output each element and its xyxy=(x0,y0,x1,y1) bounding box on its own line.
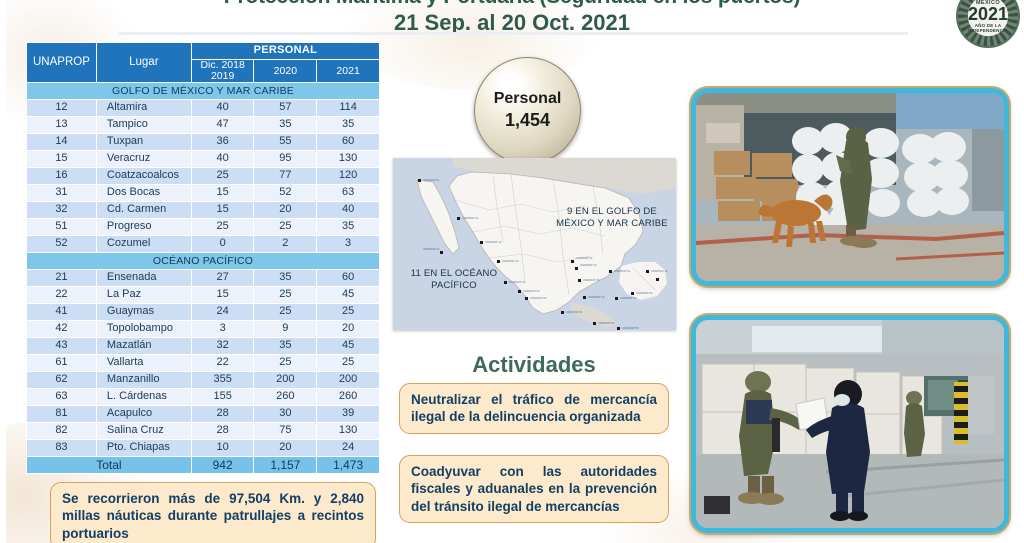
photo-dog-inspection xyxy=(691,88,1009,286)
table-row: 83Pto. Chiapas102024 xyxy=(27,440,380,457)
cell-2019: 36 xyxy=(191,134,254,151)
table-row: 13Tampico473535 xyxy=(27,117,380,134)
cell-2019: 155 xyxy=(191,389,254,406)
cell-lugar: Progreso xyxy=(96,219,191,236)
cell-lugar: Cozumel xyxy=(96,236,191,253)
table-row: 81Acapulco283039 xyxy=(27,406,380,423)
cell-2019: 40 xyxy=(191,151,254,168)
table-row: 63L. Cárdenas155260260 xyxy=(27,389,380,406)
svg-text:UNAPROP 14: UNAPROP 14 xyxy=(576,256,593,260)
table-section-header: OCÉANO PACÍFICO xyxy=(27,253,380,270)
cell-lugar: Tuxpan xyxy=(96,134,191,151)
col-lugar: Lugar xyxy=(96,43,191,83)
warehouse-inspection-image xyxy=(696,320,1004,528)
col-dic-2018-line2: 2019 xyxy=(192,71,254,82)
table-row: 15Veracruz4095130 xyxy=(27,151,380,168)
personnel-table: UNAPROP Lugar PERSONAL Dic. 2018 2019 20… xyxy=(26,42,380,474)
cell-2021: 120 xyxy=(317,168,380,185)
cell-unaprop: 62 xyxy=(27,372,97,389)
cell-2019: 15 xyxy=(191,287,254,304)
cell-2021: 130 xyxy=(317,423,380,440)
cell-lugar: Vallarta xyxy=(96,355,191,372)
cell-lugar: La Paz xyxy=(96,287,191,304)
personal-badge-label: Personal xyxy=(494,90,562,108)
svg-text:UNAPROP 13: UNAPROP 13 xyxy=(580,263,597,267)
cell-unaprop: 13 xyxy=(27,117,97,134)
svg-text:UNAPROP 63: UNAPROP 63 xyxy=(530,296,547,300)
total-2019: 942 xyxy=(191,457,254,474)
table-row: 43Mazatlán323545 xyxy=(27,338,380,355)
col-personal-group: PERSONAL xyxy=(191,43,379,60)
cell-2021: 60 xyxy=(317,134,380,151)
svg-text:UNAPROP 51: UNAPROP 51 xyxy=(614,269,631,273)
title-divider xyxy=(118,32,908,35)
svg-text:UNAPROP 42: UNAPROP 42 xyxy=(485,240,502,244)
cell-lugar: Pto. Chiapas xyxy=(96,440,191,457)
seal-year: 2021 xyxy=(968,5,1008,23)
cell-lugar: Guaymas xyxy=(96,304,191,321)
cell-2020: 20 xyxy=(254,202,317,219)
cell-lugar: Veracruz xyxy=(96,151,191,168)
cell-2019: 24 xyxy=(191,304,254,321)
cell-2020: 55 xyxy=(254,134,317,151)
table-row: 41Guaymas242525 xyxy=(27,304,380,321)
table-row: 12Altamira4057114 xyxy=(27,100,380,117)
cell-2020: 77 xyxy=(254,168,317,185)
cell-2019: 28 xyxy=(191,423,254,440)
col-2020: 2020 xyxy=(254,60,317,83)
cell-unaprop: 41 xyxy=(27,304,97,321)
table-section-label: GOLFO DE MÉXICO Y MAR CARIBE xyxy=(27,83,380,100)
cell-lugar: Coatzacoalcos xyxy=(96,168,191,185)
cell-unaprop: 83 xyxy=(27,440,97,457)
mexico-map: UNAPROP 21 UNAPROP 41 UNAPROP 42 UNAPROP… xyxy=(393,158,676,330)
actividad-item-2: Coadyuvar con las autoridades fiscales y… xyxy=(399,455,669,523)
map-graphic-icon: UNAPROP 21 UNAPROP 41 UNAPROP 42 UNAPROP… xyxy=(393,158,676,330)
cell-unaprop: 81 xyxy=(27,406,97,423)
table-row: 62Manzanillo355200200 xyxy=(27,372,380,389)
cell-2019: 355 xyxy=(191,372,254,389)
title-line-1: Protección Marítima y Portuaria (Segurid… xyxy=(0,0,1024,9)
cell-2020: 20 xyxy=(254,440,317,457)
cell-2021: 39 xyxy=(317,406,380,423)
cell-2019: 10 xyxy=(191,440,254,457)
cell-unaprop: 16 xyxy=(27,168,97,185)
photo-warehouse-inspection xyxy=(691,315,1009,533)
cell-unaprop: 52 xyxy=(27,236,97,253)
cell-2021: 130 xyxy=(317,151,380,168)
svg-text:UNAPROP 16: UNAPROP 16 xyxy=(588,295,605,299)
cell-2021: 45 xyxy=(317,338,380,355)
cell-2020: 35 xyxy=(254,270,317,287)
svg-text:UNAPROP 41: UNAPROP 41 xyxy=(462,216,479,220)
cell-2019: 25 xyxy=(191,219,254,236)
svg-text:UNAPROP 62: UNAPROP 62 xyxy=(523,289,540,293)
cell-2020: 200 xyxy=(254,372,317,389)
dog-inspection-image xyxy=(696,93,1004,281)
slide-title: Protección Marítima y Portuaria (Segurid… xyxy=(0,0,1024,34)
table-row: 82Salina Cruz2875130 xyxy=(27,423,380,440)
cell-2020: 35 xyxy=(254,117,317,134)
cell-2020: 52 xyxy=(254,185,317,202)
cell-unaprop: 15 xyxy=(27,151,97,168)
cell-2020: 260 xyxy=(254,389,317,406)
left-page-edge xyxy=(0,0,6,543)
cell-2020: 25 xyxy=(254,219,317,236)
cell-2019: 47 xyxy=(191,117,254,134)
cell-2021: 24 xyxy=(317,440,380,457)
svg-text:UNAPROP 22: UNAPROP 22 xyxy=(423,247,440,251)
cell-unaprop: 12 xyxy=(27,100,97,117)
col-dic-2018-2019: Dic. 2018 2019 xyxy=(191,60,254,83)
table-header-row-1: UNAPROP Lugar PERSONAL xyxy=(27,43,380,60)
cell-unaprop: 63 xyxy=(27,389,97,406)
cell-lugar: Altamira xyxy=(96,100,191,117)
personal-total-badge: Personal 1,454 xyxy=(474,57,581,164)
cell-2021: 35 xyxy=(317,117,380,134)
cell-2019: 25 xyxy=(191,168,254,185)
cell-2020: 25 xyxy=(254,355,317,372)
svg-text:UNAPROP 81: UNAPROP 81 xyxy=(566,310,583,314)
cell-unaprop: 31 xyxy=(27,185,97,202)
cell-unaprop: 22 xyxy=(27,287,97,304)
cell-2021: 60 xyxy=(317,270,380,287)
cell-lugar: L. Cárdenas xyxy=(96,389,191,406)
cell-2019: 28 xyxy=(191,406,254,423)
cell-unaprop: 82 xyxy=(27,423,97,440)
cell-2019: 27 xyxy=(191,270,254,287)
table-row: 42Topolobampo3920 xyxy=(27,321,380,338)
map-note-gulf: 9 EN EL GOLFO DE MÉXICO Y MAR CARIBE xyxy=(556,206,668,230)
cell-2020: 25 xyxy=(254,304,317,321)
svg-text:UNAPROP 21: UNAPROP 21 xyxy=(423,178,440,182)
cell-lugar: Cd. Carmen xyxy=(96,202,191,219)
cell-2021: 260 xyxy=(317,389,380,406)
cell-2021: 63 xyxy=(317,185,380,202)
table-header: UNAPROP Lugar PERSONAL Dic. 2018 2019 20… xyxy=(27,43,380,83)
col-2021: 2021 xyxy=(317,60,380,83)
svg-text:UNAPROP 82: UNAPROP 82 xyxy=(598,321,615,325)
cell-lugar: Salina Cruz xyxy=(96,423,191,440)
cell-unaprop: 42 xyxy=(27,321,97,338)
cell-2021: 114 xyxy=(317,100,380,117)
cell-lugar: Manzanillo xyxy=(96,372,191,389)
cell-unaprop: 32 xyxy=(27,202,97,219)
cell-2019: 22 xyxy=(191,355,254,372)
svg-text:UNAPROP 32: UNAPROP 32 xyxy=(620,296,637,300)
cell-lugar: Acapulco xyxy=(96,406,191,423)
table-row: 61Vallarta222525 xyxy=(27,355,380,372)
cell-2019: 3 xyxy=(191,321,254,338)
personal-badge-value: 1,454 xyxy=(505,110,550,131)
total-2021: 1,473 xyxy=(317,457,380,474)
svg-text:UNAPROP 43: UNAPROP 43 xyxy=(502,259,519,263)
cell-2020: 35 xyxy=(254,338,317,355)
title-line-2: 21 Sep. al 20 Oct. 2021 xyxy=(0,11,1024,35)
table-row: 31Dos Bocas155263 xyxy=(27,185,380,202)
cell-2019: 15 xyxy=(191,202,254,219)
cell-2020: 2 xyxy=(254,236,317,253)
cell-2019: 32 xyxy=(191,338,254,355)
cell-2021: 35 xyxy=(317,219,380,236)
cell-2019: 0 xyxy=(191,236,254,253)
svg-text:UNAPROP 52: UNAPROP 52 xyxy=(636,291,653,295)
table-row: 52Cozumel023 xyxy=(27,236,380,253)
table-row: 22La Paz152545 xyxy=(27,287,380,304)
mexico-2021-seal-icon: MÉXICO 2021 AÑO DE LA INDEPENDENCIA xyxy=(956,0,1020,48)
table-total-row: Total9421,1571,473 xyxy=(27,457,380,474)
cell-2019: 15 xyxy=(191,185,254,202)
cell-unaprop: 61 xyxy=(27,355,97,372)
cell-2021: 40 xyxy=(317,202,380,219)
cell-lugar: Ensenada xyxy=(96,270,191,287)
cell-lugar: Mazatlán xyxy=(96,338,191,355)
kilometers-patrolled-box: Se recorrieron más de 97,504 Km. y 2,840… xyxy=(50,482,376,543)
cell-2020: 57 xyxy=(254,100,317,117)
svg-text:UNAPROP 83: UNAPROP 83 xyxy=(622,326,639,330)
cell-unaprop: 14 xyxy=(27,134,97,151)
cell-2021: 25 xyxy=(317,304,380,321)
table-row: 14Tuxpan365560 xyxy=(27,134,380,151)
cell-lugar: Topolobampo xyxy=(96,321,191,338)
total-2020: 1,157 xyxy=(254,457,317,474)
total-label: Total xyxy=(27,457,192,474)
seal-sub-text: AÑO DE LA INDEPENDENCIA xyxy=(956,23,1020,33)
cell-unaprop: 43 xyxy=(27,338,97,355)
cell-2021: 20 xyxy=(317,321,380,338)
table-row: 21Ensenada273560 xyxy=(27,270,380,287)
cell-2020: 25 xyxy=(254,287,317,304)
table-row: 16Coatzacoalcos2577120 xyxy=(27,168,380,185)
cell-2020: 95 xyxy=(254,151,317,168)
cell-2020: 30 xyxy=(254,406,317,423)
map-note-pacific: 11 EN EL OCÉANO PACÍFICO xyxy=(399,268,509,292)
svg-text:UNAPROP 12: UNAPROP 12 xyxy=(651,269,668,273)
cell-2021: 25 xyxy=(317,355,380,372)
cell-unaprop: 21 xyxy=(27,270,97,287)
cell-lugar: Tampico xyxy=(96,117,191,134)
cell-lugar: Dos Bocas xyxy=(96,185,191,202)
svg-text:UNAPROP 61: UNAPROP 61 xyxy=(509,280,526,284)
cell-2021: 45 xyxy=(317,287,380,304)
cell-2020: 75 xyxy=(254,423,317,440)
cell-2021: 3 xyxy=(317,236,380,253)
cell-2021: 200 xyxy=(317,372,380,389)
cell-unaprop: 51 xyxy=(27,219,97,236)
table-section-header: GOLFO DE MÉXICO Y MAR CARIBE xyxy=(27,83,380,100)
actividad-item-1: Neutralizar el tráfico de mercancía ileg… xyxy=(399,383,669,434)
table-body: GOLFO DE MÉXICO Y MAR CARIBE12Altamira40… xyxy=(27,83,380,474)
svg-text:UNAPROP 15: UNAPROP 15 xyxy=(583,278,600,282)
table-row: 32Cd. Carmen152040 xyxy=(27,202,380,219)
table-section-label: OCÉANO PACÍFICO xyxy=(27,253,380,270)
table-row: 51Progreso252535 xyxy=(27,219,380,236)
actividades-heading: Actividades xyxy=(399,352,669,378)
col-unaprop: UNAPROP xyxy=(27,43,97,83)
cell-2019: 40 xyxy=(191,100,254,117)
cell-2020: 9 xyxy=(254,321,317,338)
